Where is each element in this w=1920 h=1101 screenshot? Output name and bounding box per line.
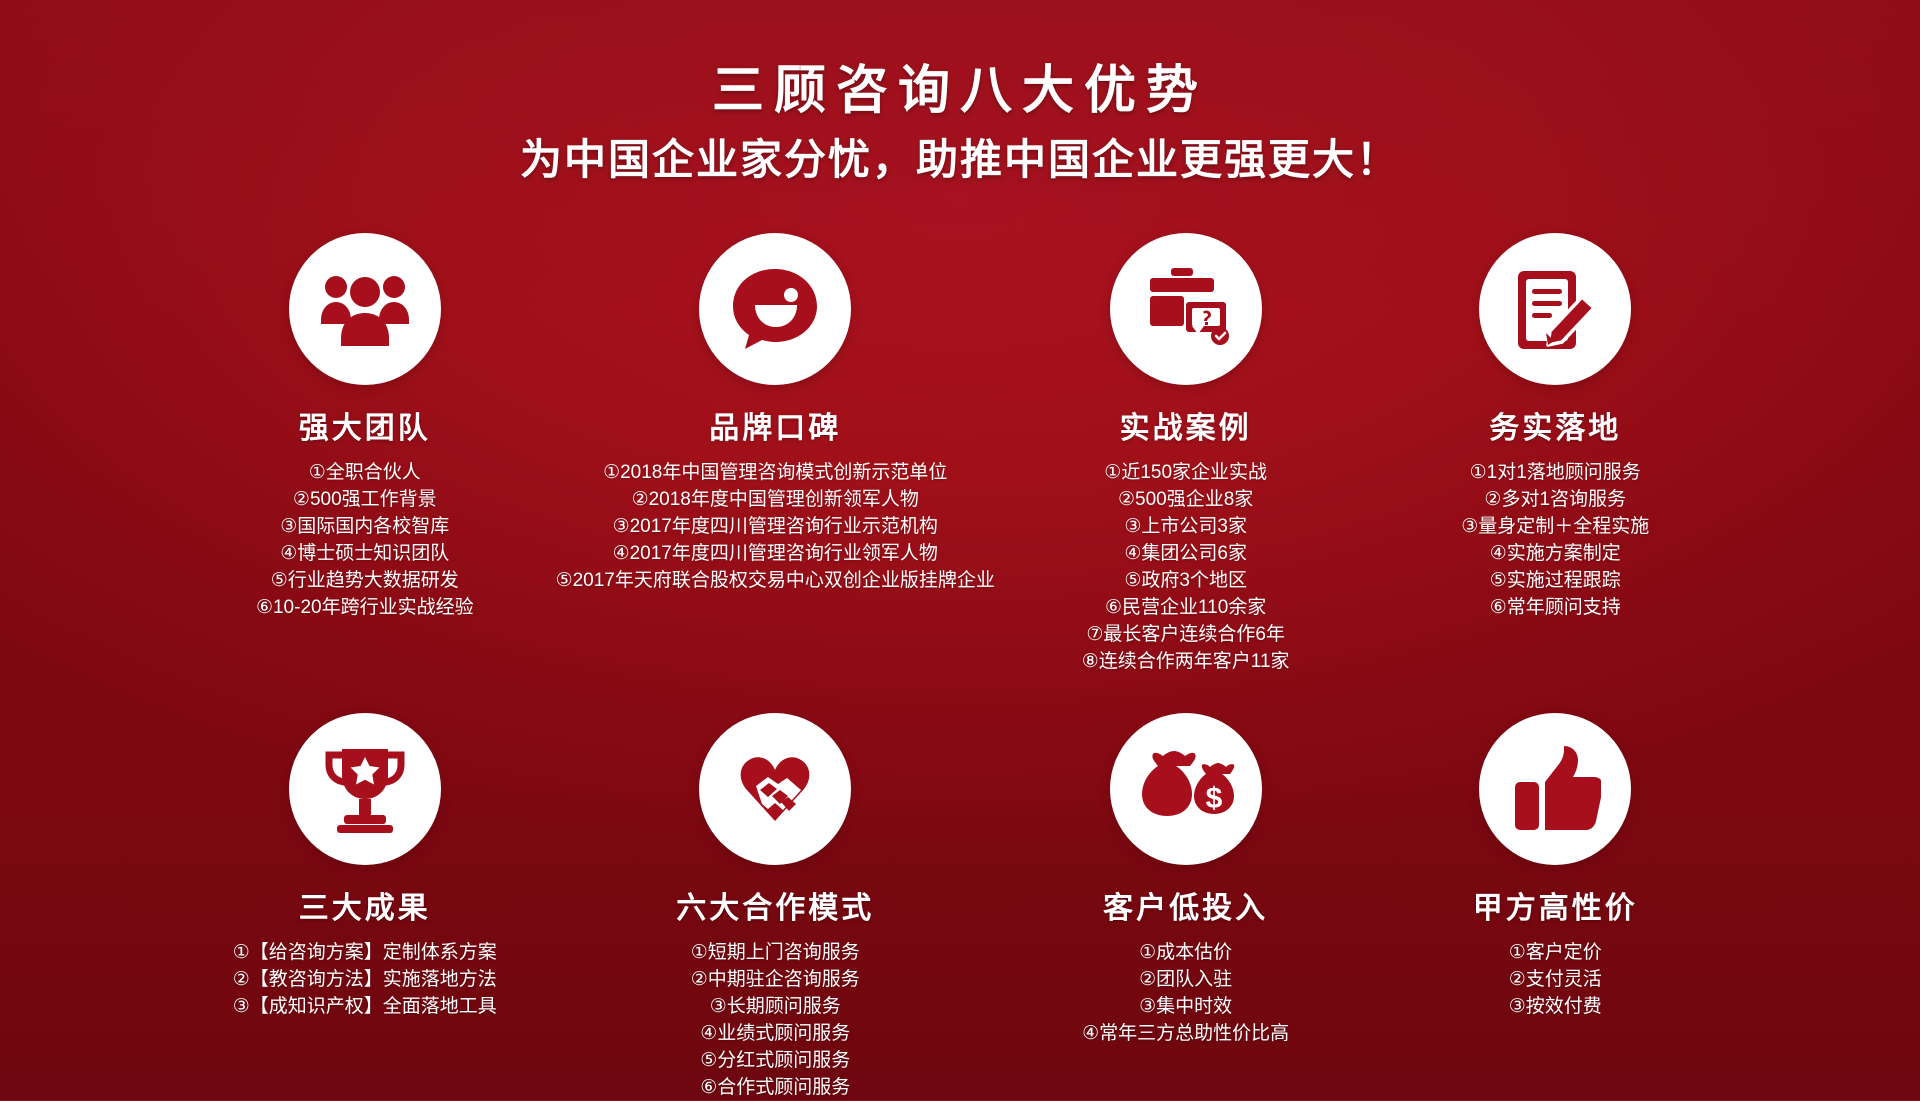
list-item: ⑥合作式顾问服务 <box>691 1074 860 1101</box>
badge-circle <box>699 713 851 865</box>
list-item: ③长期顾问服务 <box>691 993 860 1020</box>
badge-circle <box>1110 233 1262 385</box>
card-title: 客户低投入 <box>1103 883 1268 927</box>
card-item-list: ①【给咨询方案】定制体系方案 ②【教咨询方法】实施落地方法 ③【成知识产权】全面… <box>233 939 497 1020</box>
card-title: 实战案例 <box>1120 403 1252 447</box>
advantage-card-low-cost: $ 客户低投入 ①成本估价 ②团队入驻 ③集中时效 ④常年三方总助性价比高 <box>1001 713 1371 1101</box>
list-item: ③按效付费 <box>1509 993 1602 1020</box>
list-item: ④实施方案制定 <box>1461 540 1649 567</box>
team-people-icon <box>317 270 413 348</box>
list-item: ④集团公司6家 <box>1082 540 1290 567</box>
list-item: ③量身定制＋全程实施 <box>1461 513 1649 540</box>
badge-circle: $ <box>1110 713 1262 865</box>
list-item: ⑥10-20年跨行业实战经验 <box>256 594 474 621</box>
list-item: ①【给咨询方案】定制体系方案 <box>233 939 497 966</box>
list-item: ①全职合伙人 <box>256 459 474 486</box>
list-item: ⑥民营企业110余家 <box>1082 594 1290 621</box>
badge-circle <box>1479 713 1631 865</box>
card-item-list: ①客户定价 ②支付灵活 ③按效付费 <box>1509 939 1602 1020</box>
card-title: 务实落地 <box>1489 403 1621 447</box>
page-subtitle: 为中国企业家分忧，助推中国企业更强更大！ <box>0 136 1920 184</box>
list-item: ③国际国内各校智库 <box>256 513 474 540</box>
svg-text:$: $ <box>1205 782 1222 815</box>
list-item: ②支付灵活 <box>1509 966 1602 993</box>
list-item: ⑤2017年天府联合股权交易中心双创企业版挂牌企业 <box>556 567 995 594</box>
list-item: ①成本估价 <box>1082 939 1289 966</box>
list-item: ③上市公司3家 <box>1082 513 1290 540</box>
card-item-list: ①1对1落地顾问服务 ②多对1咨询服务 ③量身定制＋全程实施 ④实施方案制定 ⑤… <box>1461 459 1649 621</box>
list-item: ②多对1咨询服务 <box>1461 486 1649 513</box>
trophy-icon <box>320 743 410 835</box>
card-item-list: ①近150家企业实战 ②500强企业8家 ③上市公司3家 ④集团公司6家 ⑤政府… <box>1082 459 1290 675</box>
badge-circle <box>1479 233 1631 385</box>
clipboard-pen-icon <box>1512 263 1598 355</box>
list-item: ④2017年度四川管理咨询行业领军人物 <box>556 540 995 567</box>
card-title: 甲方高性价 <box>1473 883 1638 927</box>
list-item: ②500强工作背景 <box>256 486 474 513</box>
briefcase-case-icon <box>1140 266 1232 352</box>
list-item: ③集中时效 <box>1082 993 1289 1020</box>
list-item: ①1对1落地顾问服务 <box>1461 459 1649 486</box>
list-item: ⑤行业趋势大数据研发 <box>256 567 474 594</box>
money-bag-icon: $ <box>1136 746 1236 832</box>
smiley-face-icon <box>729 265 821 353</box>
advantages-grid: 强大团队 ①全职合伙人 ②500强工作背景 ③国际国内各校智库 ④博士硕士知识团… <box>180 233 1740 1101</box>
poster-header: 三顾咨询八大优势 为中国企业家分忧，助推中国企业更强更大！ <box>0 0 1920 185</box>
card-title: 品牌口碑 <box>709 403 841 447</box>
list-item: ⑤实施过程跟踪 <box>1461 567 1649 594</box>
card-item-list: ①全职合伙人 ②500强工作背景 ③国际国内各校智库 ④博士硕士知识团队 ⑤行业… <box>256 459 474 621</box>
list-item: ②500强企业8家 <box>1082 486 1290 513</box>
badge-circle <box>289 713 441 865</box>
list-item: ①2018年中国管理咨询模式创新示范单位 <box>556 459 995 486</box>
list-item: ①客户定价 <box>1509 939 1602 966</box>
list-item: ⑤分红式顾问服务 <box>691 1047 860 1074</box>
list-item: ②中期驻企咨询服务 <box>691 966 860 993</box>
list-item: ②2018年度中国管理创新领军人物 <box>556 486 995 513</box>
list-item: ①短期上门咨询服务 <box>691 939 860 966</box>
advantage-card-execution: 务实落地 ①1对1落地顾问服务 ②多对1咨询服务 ③量身定制＋全程实施 ④实施方… <box>1370 233 1740 675</box>
advantage-card-value: 甲方高性价 ①客户定价 ②支付灵活 ③按效付费 <box>1370 713 1740 1101</box>
handshake-heart-icon <box>726 746 824 832</box>
card-item-list: ①2018年中国管理咨询模式创新示范单位 ②2018年度中国管理创新领军人物 ③… <box>556 459 995 594</box>
advantage-card-cooperation: 六大合作模式 ①短期上门咨询服务 ②中期驻企咨询服务 ③长期顾问服务 ④业绩式顾… <box>550 713 1001 1101</box>
advantage-card-brand: 品牌口碑 ①2018年中国管理咨询模式创新示范单位 ②2018年度中国管理创新领… <box>550 233 1001 675</box>
advantage-card-team: 强大团队 ①全职合伙人 ②500强工作背景 ③国际国内各校智库 ④博士硕士知识团… <box>180 233 550 675</box>
card-item-list: ①成本估价 ②团队入驻 ③集中时效 ④常年三方总助性价比高 <box>1082 939 1289 1047</box>
badge-circle <box>289 233 441 385</box>
page-title: 三顾咨询八大优势 <box>0 62 1920 120</box>
list-item: ②【教咨询方法】实施落地方法 <box>233 966 497 993</box>
list-item: ④常年三方总助性价比高 <box>1082 1020 1289 1047</box>
list-item: ③【成知识产权】全面落地工具 <box>233 993 497 1020</box>
card-title: 六大合作模式 <box>676 883 874 927</box>
badge-circle <box>699 233 851 385</box>
list-item: ⑦最长客户连续合作6年 <box>1082 621 1290 648</box>
advantage-card-cases: 实战案例 ①近150家企业实战 ②500强企业8家 ③上市公司3家 ④集团公司6… <box>1001 233 1371 675</box>
poster-canvas: 三顾咨询八大优势 为中国企业家分忧，助推中国企业更强更大！ 强大团队 <box>0 0 1920 1100</box>
list-item: ⑥常年顾问支持 <box>1461 594 1649 621</box>
list-item: ④博士硕士知识团队 <box>256 540 474 567</box>
list-item: ⑧连续合作两年客户11家 <box>1082 648 1290 675</box>
list-item: ⑤政府3个地区 <box>1082 567 1290 594</box>
list-item: ①近150家企业实战 <box>1082 459 1290 486</box>
thumbs-up-icon <box>1509 744 1601 834</box>
list-item: ③2017年度四川管理咨询行业示范机构 <box>556 513 995 540</box>
card-item-list: ①短期上门咨询服务 ②中期驻企咨询服务 ③长期顾问服务 ④业绩式顾问服务 ⑤分红… <box>691 939 860 1101</box>
card-title: 三大成果 <box>299 883 431 927</box>
card-title: 强大团队 <box>299 403 431 447</box>
list-item: ②团队入驻 <box>1082 966 1289 993</box>
advantage-card-results: 三大成果 ①【给咨询方案】定制体系方案 ②【教咨询方法】实施落地方法 ③【成知识… <box>180 713 550 1101</box>
list-item: ④业绩式顾问服务 <box>691 1020 860 1047</box>
